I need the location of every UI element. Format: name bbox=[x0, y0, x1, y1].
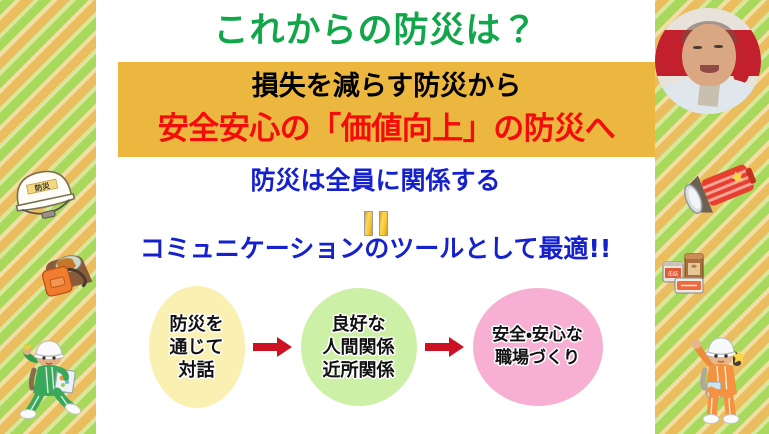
emergency-backpack-icon bbox=[38, 252, 94, 298]
safety-helmet-icon: 防災 bbox=[6, 160, 80, 222]
statement-line-1: 防災は全員に関係する bbox=[96, 164, 655, 198]
bubble-line: 職場づくり bbox=[495, 347, 580, 370]
canned-food-icon: 缶詰 bbox=[661, 250, 717, 298]
flow-arrow-1 bbox=[245, 336, 301, 358]
highlight-banner: 損失を減らす防災から 安全安心の「価値向上」の防災へ bbox=[118, 62, 655, 157]
bubble-line: 対話 bbox=[179, 359, 215, 382]
presenter-eye-left bbox=[693, 46, 702, 49]
bubble-line: 安全・安心な bbox=[492, 324, 583, 347]
banner-line-from: 損失を減らす防災から bbox=[118, 67, 655, 107]
flow-diagram: 防災を 通じて 対話 良好な 人間関係 近所関係 安全・安心な bbox=[96, 282, 655, 412]
bubble-line: 防災を bbox=[170, 313, 224, 336]
bubble-line: 通じて bbox=[170, 336, 224, 359]
statement-line-2: コミュニケーションのツールとして最適!! bbox=[96, 232, 655, 266]
presenter-head bbox=[682, 24, 736, 86]
bubble-line: 近所関係 bbox=[323, 359, 395, 382]
person-orange-uniform-icon bbox=[681, 330, 759, 426]
flow-bubble-anzen-shokuba: 安全・安心な 職場づくり bbox=[473, 288, 603, 406]
page-title: これからの防災は？ bbox=[96, 8, 655, 54]
person-green-uniform-icon bbox=[16, 338, 88, 424]
presenter-mouth bbox=[700, 65, 719, 73]
bubble-line: 人間関係 bbox=[323, 336, 395, 359]
svg-text:缶詰: 缶詰 bbox=[668, 271, 678, 278]
flow-bubble-ryoko-kankei: 良好な 人間関係 近所関係 bbox=[301, 288, 417, 406]
banner-line-to: 安全安心の「価値向上」の防災へ bbox=[118, 107, 655, 151]
bubble-line: 良好な bbox=[332, 313, 386, 336]
presentation-slide: 防災 bbox=[0, 0, 769, 434]
slide-content: これからの防災は？ 損失を減らす防災から 安全安心の「価値向上」の防災へ 防災は… bbox=[96, 0, 655, 434]
flow-bubble-bousai-taiwa: 防災を 通じて 対話 bbox=[149, 286, 245, 408]
presenter-video-tile[interactable]: 学園女子大 bbox=[655, 8, 761, 114]
flashlight-icon bbox=[679, 160, 763, 220]
flow-arrow-2 bbox=[417, 336, 473, 358]
presenter-eye-right bbox=[714, 45, 723, 48]
